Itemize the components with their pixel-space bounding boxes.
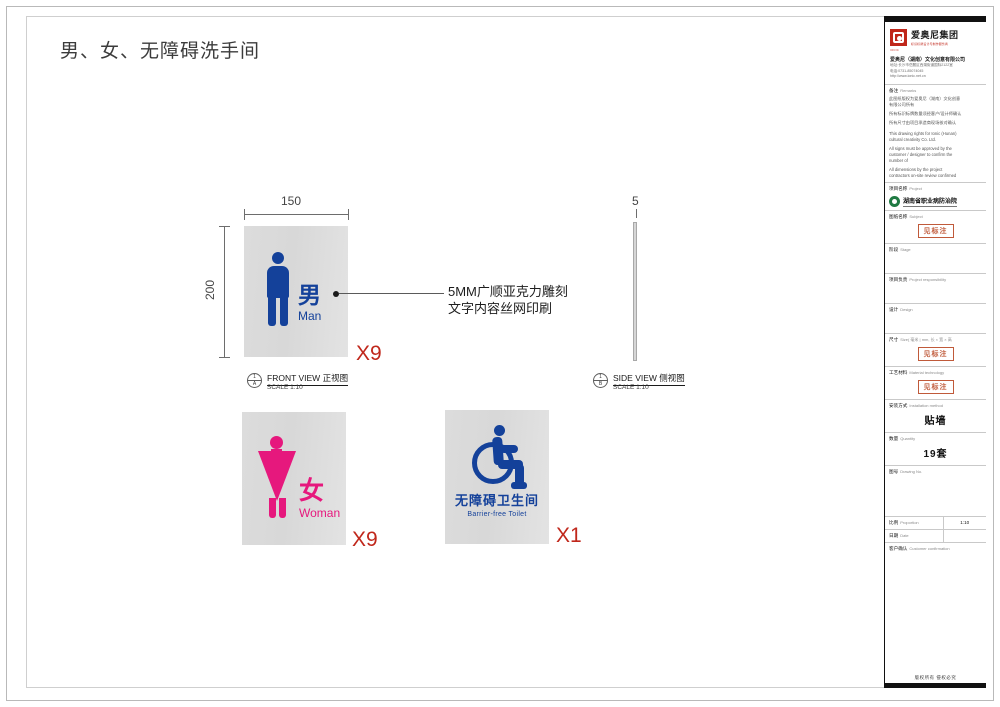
customer-confirmation-label-cn: 客户确认	[889, 546, 907, 551]
sign-panel-men: 男 Man	[244, 226, 348, 357]
dimension-value-width: 150	[281, 194, 301, 208]
date-label: 日期Date	[885, 530, 944, 542]
remarks-en-body: This drawing rights for Ionic (Hunan) cu…	[889, 131, 982, 179]
field-stage: 阶段Stage	[885, 244, 986, 274]
sign-panel-side-profile	[633, 222, 637, 361]
hospital-logo-icon	[889, 196, 900, 207]
company-website: http://www.ionic.net.cn	[890, 74, 981, 80]
subject-label-en: Subject	[909, 214, 922, 219]
project-responsibility-label-en: Project responsibility	[909, 277, 946, 282]
remarks-label: 备注Remarks	[889, 88, 982, 94]
dimension-value-thickness: 5	[632, 194, 639, 208]
field-customer-confirmation: 客户确认Customer confirmation	[885, 543, 986, 595]
stage-value[interactable]	[889, 253, 982, 270]
brand-mark-label: IONIC	[890, 49, 981, 52]
callout-note: 5MM广顺亚克力雕刻 文字内容丝网印刷	[448, 283, 568, 317]
remarks-label-en: Remarks	[900, 88, 916, 93]
callout-note-line-1: 5MM广顺亚克力雕刻	[448, 283, 568, 300]
drawing-no-label-en: Drawing No.	[900, 469, 922, 474]
ionic-logo-icon	[890, 29, 907, 46]
field-design: 设计Design	[885, 304, 986, 334]
project-responsibility-label-cn: 项目负责	[889, 277, 907, 282]
field-subject: 图纸名称Subject 见标注	[885, 211, 986, 244]
man-pictogram-icon	[261, 252, 295, 326]
date-value[interactable]	[944, 530, 986, 542]
view-bubble-number: 1	[599, 375, 602, 380]
view-bubble-letter: A	[253, 382, 256, 387]
remarks-section: 备注Remarks 此图纸版权为爱奥尼（湖南）文化创意 有限公司所有 所有标识标…	[885, 85, 986, 183]
subject-value-stamp: 见标注	[918, 224, 954, 238]
brand-tagline: 标识标牌设计与制作服务商	[911, 42, 959, 46]
company-info: 爱奥尼（湖南）文化创意有限公司 地址:长沙市岳麓区西湖街道国际2122室 电话:…	[885, 54, 986, 85]
material-technology-value-stamp: 见标注	[918, 380, 954, 394]
callout-note-line-2: 文字内容丝网印刷	[448, 300, 568, 317]
remarks-cn-line: 所有尺寸由项目承造商现场核对确认	[889, 120, 982, 126]
woman-pictogram-icon	[258, 436, 296, 518]
quantity-label-cn: 数量	[889, 436, 898, 441]
field-project-name: 项目名称Project 湖南省职业病防治院	[885, 183, 986, 211]
stage-label-en: Stage	[900, 247, 910, 252]
view-scale-front: SCALE 1:10	[267, 384, 303, 391]
brand-name: 爱奥尼集团	[911, 28, 959, 41]
design-label-en: Design	[900, 307, 912, 312]
subject-label-cn: 图纸名称	[889, 214, 907, 219]
dimension-tick-top	[219, 226, 230, 227]
project-logo: 湖南省职业病防治院	[889, 196, 982, 207]
sign-label-accessible-en: Barrier-free Toilet	[445, 511, 549, 518]
view-bubble-number: 1	[253, 375, 256, 380]
proportion-label-en: Proportion	[900, 520, 918, 525]
title-block: 爱奥尼集团 标识标牌设计与制作服务商 IONIC 爱奥尼（湖南）文化创意有限公司…	[884, 16, 986, 688]
design-value[interactable]	[889, 313, 982, 330]
sign-label-accessible-cn: 无障碍卫生间	[445, 494, 549, 507]
wheelchair-pictogram-icon	[467, 424, 531, 488]
quantity-label-en: Quantity	[900, 436, 915, 441]
dimension-line-width	[244, 214, 349, 215]
quantity-mark-men: X9	[356, 342, 382, 366]
page-title: 男、女、无障碍洗手间	[60, 36, 260, 63]
dimension-tick-left	[244, 209, 245, 220]
dimension-line-height	[224, 226, 225, 357]
view-bubble-front: 1 A	[247, 373, 262, 388]
field-quantity: 数量Quantity 19套	[885, 433, 986, 466]
callout-leader-line	[339, 293, 444, 294]
sign-panel-women: 女 Woman	[242, 412, 346, 545]
project-name-value: 湖南省职业病防治院	[903, 196, 957, 207]
sign-label-men-en: Man	[298, 310, 321, 322]
installation-method-label-en: Installation method	[909, 403, 943, 408]
remarks-label-cn: 备注	[889, 88, 898, 93]
proportion-label: 比例Proportion	[885, 517, 944, 529]
dimension-tick-right	[348, 209, 349, 220]
sign-panel-accessible: 无障碍卫生间 Barrier-free Toilet	[445, 410, 549, 544]
sign-label-men-cn: 男	[298, 284, 321, 307]
project-name-label: 项目名称Project	[889, 186, 982, 192]
callout-anchor-dot	[333, 291, 339, 297]
brand-logo: 爱奥尼集团 标识标牌设计与制作服务商	[885, 22, 986, 49]
installation-method-value: 贴墙	[889, 409, 982, 429]
size-value-stamp: 见标注	[918, 347, 954, 361]
project-name-label-cn: 项目名称	[889, 186, 907, 191]
sign-label-women-en: Woman	[299, 507, 340, 519]
view-bubble-letter: B	[599, 382, 602, 387]
size-label-cn: 尺寸	[889, 337, 898, 342]
title-block-bottom-bar	[885, 683, 986, 688]
field-drawing-no: 图号Drawing No.	[885, 466, 986, 517]
project-responsibility-value[interactable]	[889, 283, 982, 300]
date-label-cn: 日期	[889, 533, 898, 538]
field-date: 日期Date	[885, 530, 986, 543]
proportion-label-cn: 比例	[889, 520, 898, 525]
view-bubble-side: 1 B	[593, 373, 608, 388]
dimension-value-height: 200	[203, 280, 217, 300]
dimension-tick-thickness	[636, 209, 637, 218]
material-technology-label-cn: 工艺材料	[889, 370, 907, 375]
field-proportion: 比例Proportion 1:10	[885, 517, 986, 530]
remarks-en-line: contractors on-site review confirmed	[889, 173, 982, 179]
customer-confirmation-label-en: Customer confirmation	[909, 546, 949, 551]
field-project-responsibility: 项目负责Project responsibility	[885, 274, 986, 304]
quantity-mark-women: X9	[352, 528, 378, 552]
customer-confirmation-value[interactable]	[889, 552, 982, 592]
copyright-notice: 版权所有 侵权必究	[885, 675, 986, 681]
field-size: 尺寸Size( 毫米 | mm, 长 × 宽 × 高 见标注	[885, 334, 986, 367]
dimension-tick-bottom	[219, 357, 230, 358]
date-label-en: Date	[900, 533, 908, 538]
company-name: 爱奥尼（湖南）文化创意有限公司	[890, 56, 981, 63]
remarks-cn-body: 此图纸版权为爱奥尼（湖南）文化创意 有限公司所有 所有标识标牌数量须经客户/设计…	[889, 96, 982, 126]
field-installation-method: 安装方式Installation method 贴墙	[885, 400, 986, 433]
stage-label-cn: 阶段	[889, 247, 898, 252]
size-label-en: Size( 毫米 | mm, 长 × 宽 × 高	[900, 337, 952, 342]
project-name-label-en: Project	[909, 186, 921, 191]
drawing-no-value[interactable]	[889, 475, 982, 513]
field-material-technology: 工艺材料Material technology 见标注	[885, 367, 986, 400]
view-scale-side: SCALE 1:10	[613, 384, 649, 391]
drawing-page: 男、女、无障碍洗手间 150 200 男 Man X9 5MM广顺亚克力雕刻 文…	[0, 0, 1000, 707]
drawing-no-label-cn: 图号	[889, 469, 898, 474]
sheet-inner-border	[26, 16, 976, 688]
design-label-cn: 设计	[889, 307, 898, 312]
sign-label-women-cn: 女	[299, 479, 324, 504]
proportion-value: 1:10	[944, 517, 986, 529]
installation-method-label-cn: 安装方式	[889, 403, 907, 408]
quantity-value: 19套	[889, 442, 982, 462]
material-technology-label-en: Material technology	[909, 370, 944, 375]
quantity-mark-accessible: X1	[556, 524, 582, 548]
